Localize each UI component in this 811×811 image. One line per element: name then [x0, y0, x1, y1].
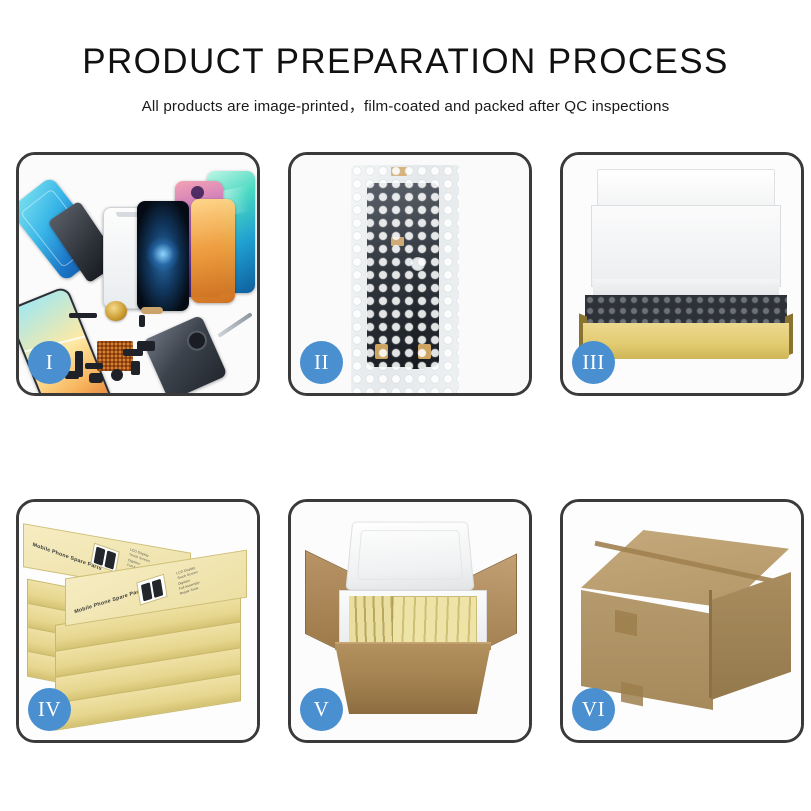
- box-label-front: Mobile Phone Spare Parts: [74, 588, 144, 616]
- spare-part-camera: [111, 369, 123, 381]
- process-step-panel-1: I: [16, 152, 260, 396]
- process-step-panel-3: III: [560, 152, 804, 396]
- spare-part-flex-c: [85, 363, 103, 369]
- box-spec-front: LCD DisplayTouch ScreenDigitizerFull Ass…: [176, 565, 201, 597]
- box-lid-front: [591, 205, 781, 287]
- dark-phone: [137, 201, 189, 311]
- step-badge-5: V: [300, 688, 343, 731]
- step-badge-3: III: [572, 341, 615, 384]
- bubble-wrapped-contents: [585, 295, 787, 325]
- process-step-grid: I II: [16, 152, 796, 743]
- step-badge-2: II: [300, 341, 343, 384]
- step-badge-4: IV: [28, 688, 71, 731]
- bubble-wrap-bag: [351, 165, 459, 393]
- product-preparation-infographic: PRODUCT PREPARATION PROCESS All products…: [0, 0, 811, 811]
- step-badge-1: I: [28, 341, 71, 384]
- bubble-texture: [351, 165, 459, 393]
- foam-box-lid: [345, 522, 474, 591]
- step-badge-6: VI: [572, 688, 615, 731]
- gold-phone: [191, 199, 235, 303]
- packed-gold-boxes-left: [349, 596, 393, 644]
- gold-box-front: [583, 323, 789, 359]
- process-step-panel-5: V: [288, 499, 532, 743]
- process-step-panel-4: Mobile Phone Spare Parts LCD DisplayTouc…: [16, 499, 260, 743]
- carton-vertical-edge: [709, 590, 712, 698]
- header: PRODUCT PREPARATION PROCESS All products…: [0, 0, 811, 116]
- spare-part-module: [137, 341, 155, 351]
- spare-part-chip: [69, 313, 97, 318]
- carton-tape-upper: [615, 610, 637, 637]
- spare-part-flex-tan: [141, 307, 163, 314]
- process-step-panel-6: VI: [560, 499, 804, 743]
- speaker-coil-part: [105, 301, 127, 321]
- tweezers-tool: [217, 312, 252, 338]
- page-title: PRODUCT PREPARATION PROCESS: [0, 44, 811, 81]
- disassembled-phone-back: [142, 315, 227, 393]
- spare-part-sensor: [131, 361, 140, 375]
- box-thumbnail-front: [136, 574, 167, 606]
- spare-part-flex-a: [139, 315, 145, 327]
- spare-part-button: [89, 373, 103, 383]
- carton-tape-lower: [621, 682, 643, 707]
- page-subtitle: All products are image-printed，film-coat…: [0, 94, 811, 116]
- carton-front-wall: [335, 644, 491, 714]
- process-step-panel-2: II: [288, 152, 532, 396]
